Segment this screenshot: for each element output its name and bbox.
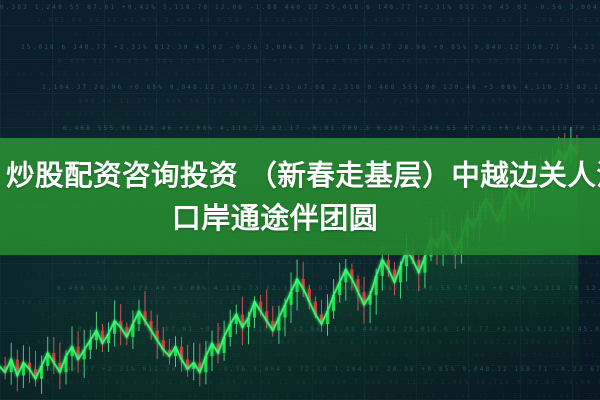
headline-line-1: 炒股配资咨询投资 （新春走基层）中越边关人流涌	[6, 156, 600, 196]
headline-block: 炒股配资咨询投资 （新春走基层）中越边关人流涌 口岸通途伴团圆	[0, 138, 600, 255]
headline-line-2: 口岸通途伴团圆	[172, 198, 379, 238]
stock-chart-banner-image: 0.382 1,240.55 87.61 +0.42% 3,118.70 12.…	[0, 0, 600, 400]
